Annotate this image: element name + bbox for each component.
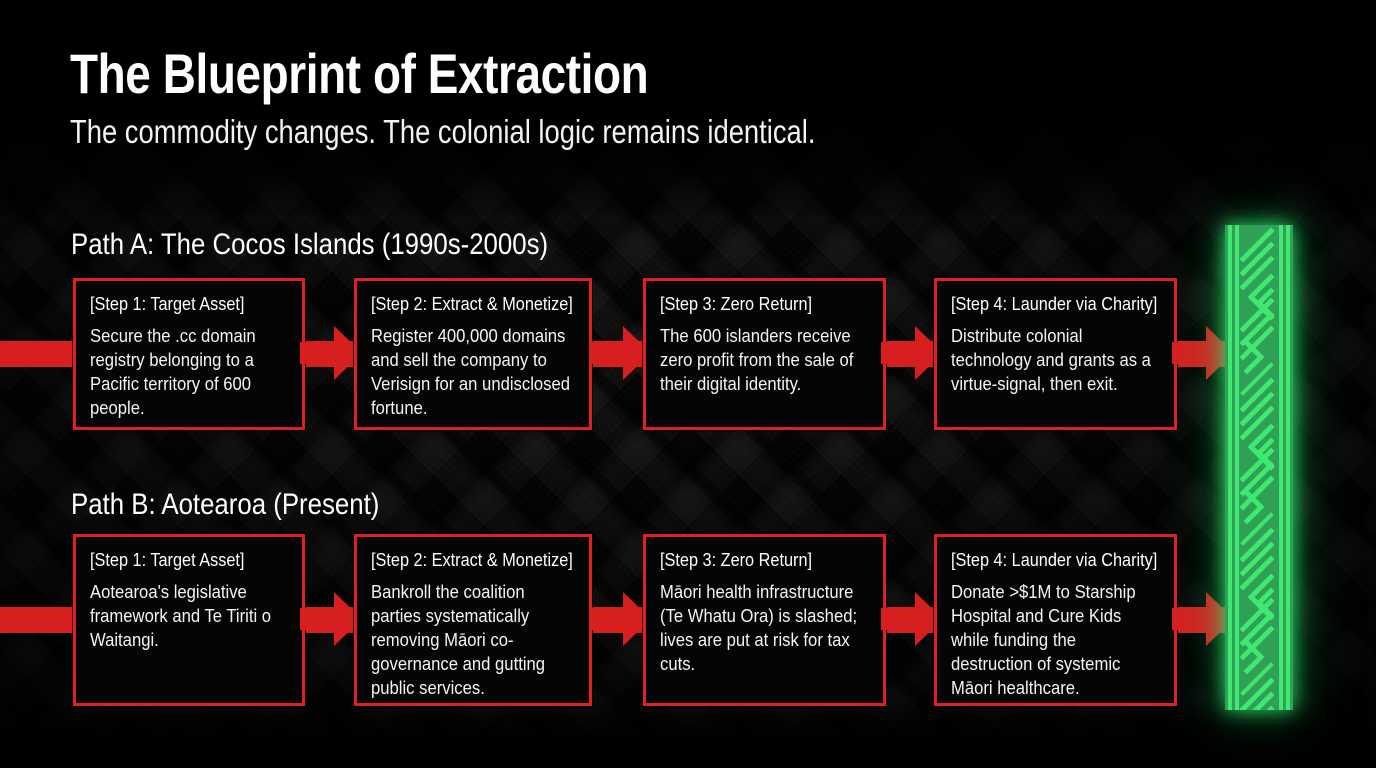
page-title: The Blueprint of Extraction [70, 45, 807, 102]
arrow-right-icon-a2 [589, 322, 651, 384]
path-a-step-4[interactable]: [Step 4: Launder via Charity] Distribute… [934, 278, 1177, 430]
path-b-step-2[interactable]: [Step 2: Extract & Monetize] Bankroll th… [354, 534, 592, 706]
step-label: [Step 3: Zero Return] [660, 293, 844, 315]
step-body: Māori health infrastructure (Te Whatu Or… [660, 580, 869, 676]
path-b-step-1[interactable]: [Step 1: Target Asset] Aotearoa's legisl… [73, 534, 305, 706]
path-a-step-1[interactable]: [Step 1: Target Asset] Secure the .cc do… [73, 278, 305, 430]
arrow-right-icon-b1 [300, 588, 362, 650]
path-a-step-3[interactable]: [Step 3: Zero Return] The 600 islanders … [643, 278, 886, 430]
step-body: Bankroll the coalition parties systemati… [371, 580, 575, 700]
step-label: [Step 4: Launder via Charity] [951, 549, 1135, 571]
path-b-step-3[interactable]: [Step 3: Zero Return] Māori health infra… [643, 534, 886, 706]
step-body: The 600 islanders receive zero profit fr… [660, 324, 869, 396]
step-body: Secure the .cc domain registry belonging… [90, 324, 288, 420]
path-a-step-2[interactable]: [Step 2: Extract & Monetize] Register 40… [354, 278, 592, 430]
path-a-flow-row: [Step 1: Target Asset] Secure the .cc do… [0, 278, 1376, 430]
path-b-step-4[interactable]: [Step 4: Launder via Charity] Donate >$1… [934, 534, 1177, 706]
background-bottom-fade [0, 698, 1376, 768]
step-label: [Step 4: Launder via Charity] [951, 293, 1135, 315]
step-body: Donate >$1M to Starship Hospital and Cur… [951, 580, 1160, 700]
step-label: [Step 1: Target Asset] [90, 549, 264, 571]
step-body: Distribute colonial technology and grant… [951, 324, 1160, 396]
step-label: [Step 1: Target Asset] [90, 293, 264, 315]
step-label: [Step 3: Zero Return] [660, 549, 844, 571]
infographic-canvas: The Blueprint of Extraction The commodit… [0, 0, 1376, 768]
kowhaiwhai-pattern-panel [1225, 225, 1293, 710]
arrow-right-icon-b2 [589, 588, 651, 650]
step-label: [Step 2: Extract & Monetize] [371, 293, 551, 315]
page-subtitle: The commodity changes. The colonial logi… [70, 113, 815, 151]
header: The Blueprint of Extraction The commodit… [70, 45, 968, 151]
step-body: Register 400,000 domains and sell the co… [371, 324, 575, 420]
step-label: [Step 2: Extract & Monetize] [371, 549, 551, 571]
arrow-right-icon-a1 [300, 322, 362, 384]
kowhaiwhai-panel-wrapper [1209, 210, 1309, 725]
path-b-heading: Path B: Aotearoa (Present) [71, 488, 379, 522]
path-b-flow-row: [Step 1: Target Asset] Aotearoa's legisl… [0, 534, 1376, 706]
path-a-heading: Path A: The Cocos Islands (1990s-2000s) [71, 228, 548, 262]
step-body: Aotearoa's legislative framework and Te … [90, 580, 288, 652]
